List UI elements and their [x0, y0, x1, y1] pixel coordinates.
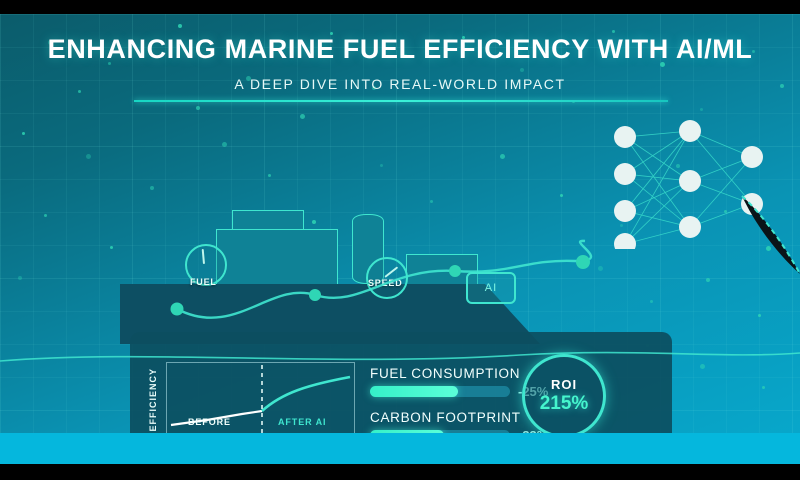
page-title: ENHANCING MARINE FUEL EFFICIENCY WITH AI…	[0, 34, 800, 65]
infographic-canvas: ENHANCING MARINE FUEL EFFICIENCY WITH AI…	[0, 0, 800, 480]
metric-progress-fill	[370, 386, 458, 397]
sea-band	[0, 433, 800, 464]
roi-label: ROI	[551, 377, 577, 392]
roi-value: 215%	[540, 393, 589, 415]
header-divider	[134, 100, 668, 102]
chart-y-axis-label: EFFICIENCY	[148, 368, 158, 432]
letterbox-top	[0, 0, 800, 14]
metric-fuel-consumption: FUEL CONSUMPTION -25%	[370, 366, 520, 397]
metric-label: FUEL CONSUMPTION	[370, 366, 520, 381]
chart-segment-before: BEFORE	[188, 417, 231, 427]
scene: ENHANCING MARINE FUEL EFFICIENCY WITH AI…	[0, 14, 800, 464]
chart-segment-after: AFTER AI	[278, 417, 326, 427]
panel-wave-line	[0, 339, 800, 369]
roi-badge: ROI 215%	[522, 354, 606, 438]
letterbox-bottom	[0, 464, 800, 480]
page-subtitle: A DEEP DIVE INTO REAL-WORLD IMPACT	[0, 76, 800, 92]
metric-label: CARBON FOOTPRINT	[370, 410, 521, 425]
metric-progress-track	[370, 386, 510, 397]
